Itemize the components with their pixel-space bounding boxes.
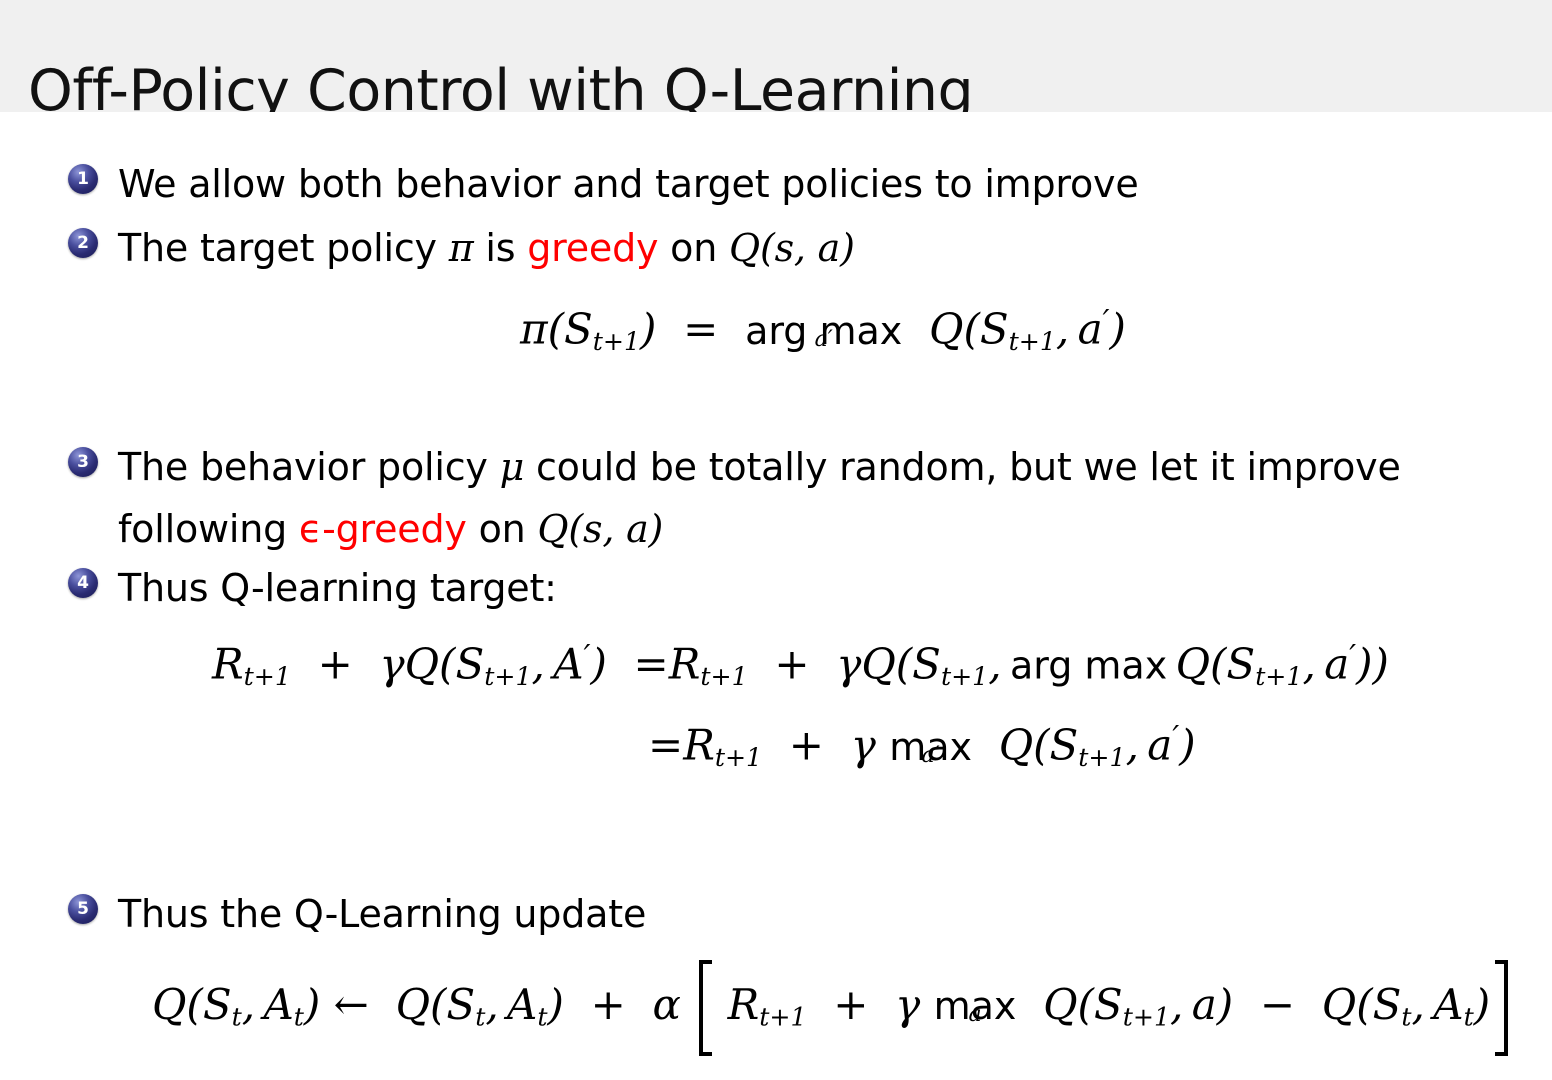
bullet-2-part-2: is <box>474 226 528 270</box>
max-operator-update: max a <box>934 980 1017 1029</box>
bullet-3-part-0: The behavior policy <box>118 445 500 489</box>
list-item-1-text: We allow both behavior and target polici… <box>118 154 1139 216</box>
alpha-symbol: α <box>653 980 681 1029</box>
equation-target-line1: Rt+1 + γQ(St+1, A′) =Rt+1 + γQ(St+1, arg… <box>212 639 1389 691</box>
max-operator-line2: max a′ <box>889 721 972 770</box>
list-item-3-text: The behavior policy μ could be totally r… <box>118 437 1518 560</box>
bullet-marker-4: 4 <box>68 568 98 598</box>
bracket-open <box>696 960 712 1056</box>
bullet-marker-3: 3 <box>68 447 98 477</box>
list-item-4-text: Thus Q-learning target: <box>118 558 557 620</box>
argmax-operator-inline: arg max <box>1010 644 1167 688</box>
gamma-symbol: γ <box>895 980 920 1029</box>
equation-target-line2: =Rt+1 + γ max a′ Q(St+1, a′) <box>648 720 1196 772</box>
bullet-5-part-0: Thus the Q-Learning update <box>118 892 646 936</box>
list-item-4: 4 Thus Q-learning target: <box>68 558 1498 620</box>
equation-policy: π(St+1) = arg max a′ Q(St+1, a′) <box>520 304 1126 356</box>
bullet-3-mu-symbol: μ <box>500 445 525 489</box>
bullet-2-q-function: Q(s, a) <box>729 226 855 270</box>
bullet-2-part-4: on <box>658 226 729 270</box>
bullet-3-part-4: on <box>467 507 538 551</box>
bullet-2-part-0: The target policy <box>118 226 449 270</box>
list-item-5-text: Thus the Q-Learning update <box>118 884 646 946</box>
list-item-3: 3 The behavior policy μ could be totally… <box>68 437 1520 560</box>
bullet-3-q-function: Q(s, a) <box>537 507 663 551</box>
list-item-5: 5 Thus the Q-Learning update <box>68 884 1498 946</box>
slide-body: 1 We allow both behavior and target poli… <box>0 112 1552 1080</box>
bullet-4-part-0: Thus Q-learning target: <box>118 566 557 610</box>
bullet-3-epsilon-greedy-highlight: ϵ-greedy <box>299 507 467 551</box>
equation-update: Q(St, At) ← Q(St, At) + α Rt+1 + γ max a… <box>152 960 1510 1056</box>
bullet-2-greedy-highlight: greedy <box>527 226 658 270</box>
bullet-marker-1: 1 <box>68 164 98 194</box>
bullet-marker-2: 2 <box>68 228 98 258</box>
bullet-1-part-0: We allow both behavior and target polici… <box>118 162 1139 206</box>
list-item-2: 2 The target policy π is greedy on Q(s, … <box>68 218 1498 280</box>
left-arrow-icon: ← <box>334 980 369 1029</box>
argmax-operator: arg max a′ <box>745 305 902 354</box>
bullet-2-pi-symbol: π <box>449 226 474 270</box>
bullet-marker-5: 5 <box>68 894 98 924</box>
list-item-1: 1 We allow both behavior and target poli… <box>68 154 1498 216</box>
list-item-2-text: The target policy π is greedy on Q(s, a) <box>118 218 855 280</box>
bracket-close <box>1492 960 1508 1056</box>
